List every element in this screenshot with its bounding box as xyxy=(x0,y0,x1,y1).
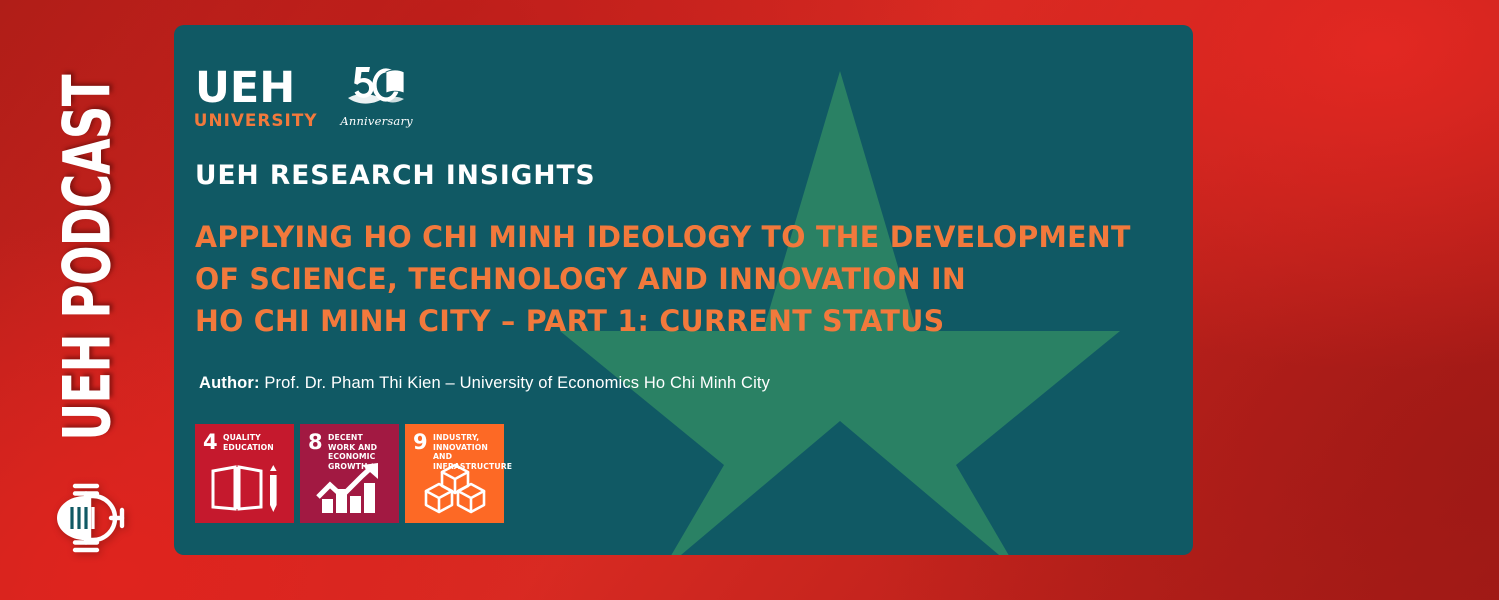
card-content: UEH UNIVERSITY xyxy=(174,25,1193,523)
stacked-cubes-icon xyxy=(422,463,488,515)
sdg-badge-quality-education[interactable]: 4 QUALITY EDUCATION xyxy=(195,424,294,523)
ueh-logo: UEH UNIVERSITY xyxy=(195,67,316,129)
anniversary-50-icon xyxy=(346,62,408,110)
vintage-microphone-icon xyxy=(45,478,131,558)
ueh-logo-subtitle: UNIVERSITY xyxy=(194,113,318,130)
sdg-badge-name: QUALITY EDUCATION xyxy=(223,433,274,452)
anniversary-label: Anniversary xyxy=(340,114,413,128)
sdg-glyph-wrap xyxy=(405,463,504,515)
anniversary-logo: Anniversary xyxy=(340,62,413,128)
podcast-brand-strip: UEH PODCAST xyxy=(0,0,176,600)
sdg-badge-industry-innovation[interactable]: 9 INDUSTRY, INNOVATION AND INFRASTRUCTUR… xyxy=(405,424,504,523)
author-line: Author: Prof. Dr. Pham Thi Kien – Univer… xyxy=(195,374,1193,393)
brand-logo-row: UEH UNIVERSITY xyxy=(195,63,1193,129)
sdg-badge-number: 4 xyxy=(203,433,218,452)
sdg-badge-row: 4 QUALITY EDUCATION xyxy=(195,424,1193,523)
sdg-badge-number: 9 xyxy=(413,433,428,452)
sdg-badge-decent-work[interactable]: 8 DECENT WORK AND ECONOMIC GROWTH xyxy=(300,424,399,523)
open-book-and-pencil-icon xyxy=(209,463,281,515)
author-label: Author: xyxy=(199,374,260,392)
podcast-cover-canvas: UEH PODCAST xyxy=(0,0,1499,600)
growth-chart-arrow-icon xyxy=(316,463,384,515)
podcast-wordmark: UEH PODCAST xyxy=(56,75,121,441)
article-title: APPLYING HO CHI MINH IDEOLOGY TO THE DEV… xyxy=(195,216,1158,342)
sdg-badge-number: 8 xyxy=(308,433,323,452)
series-title: UEH RESEARCH INSIGHTS xyxy=(195,162,1173,189)
sdg-glyph-wrap xyxy=(195,463,294,515)
author-value: Prof. Dr. Pham Thi Kien – University of … xyxy=(264,374,770,392)
ueh-logo-mark: UEH xyxy=(195,67,316,109)
sdg-glyph-wrap xyxy=(300,463,399,515)
sdg-badge-header: 4 QUALITY EDUCATION xyxy=(203,433,288,452)
episode-card: UEH UNIVERSITY xyxy=(174,25,1193,555)
